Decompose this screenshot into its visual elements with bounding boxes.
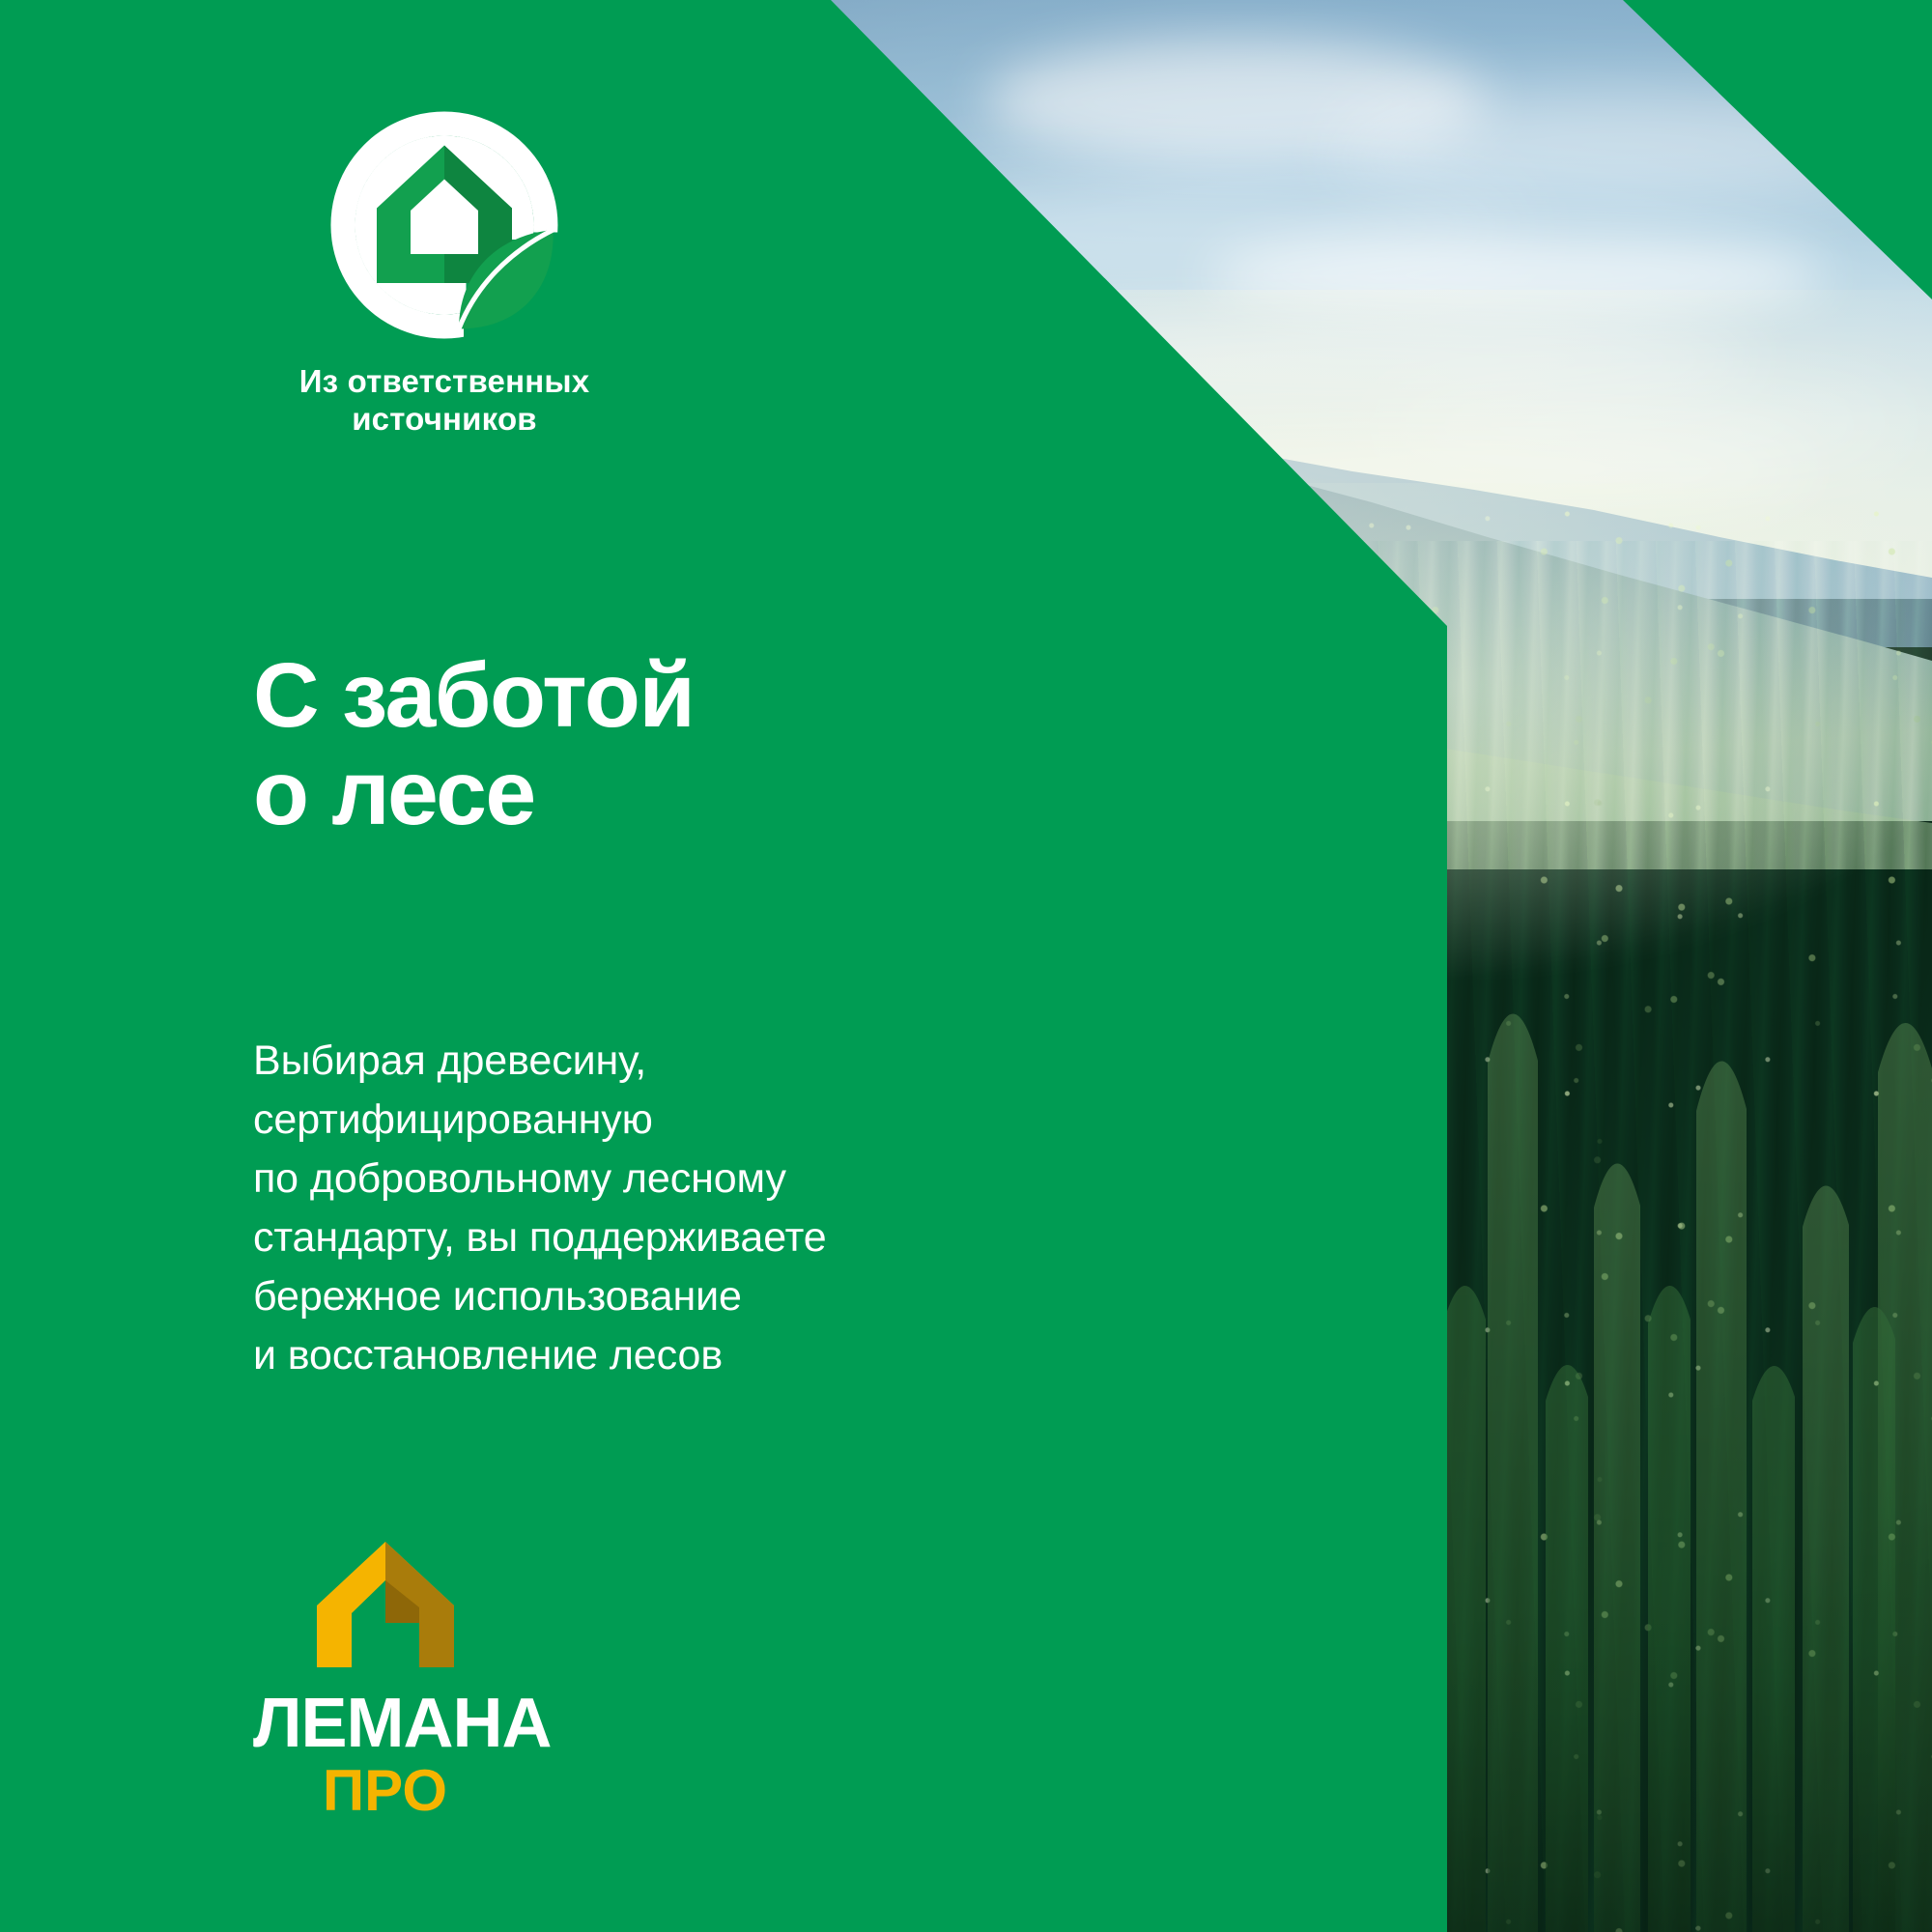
brand-name: ЛЕМАНА	[253, 1689, 639, 1758]
brand-sub-name: ПРО	[323, 1762, 639, 1820]
poster-canvas: Из ответственных источников С заботой о …	[0, 0, 1932, 1932]
page-title: С заботой о лесе	[253, 647, 694, 841]
eco-badge-label: Из ответственных источников	[193, 363, 696, 439]
poster-content: Из ответственных источников С заботой о …	[0, 0, 1447, 1932]
lemana-house-icon	[313, 1538, 458, 1673]
body-copy: Выбирая древесину, сертифицированную по …	[253, 1032, 827, 1385]
house-leaf-circle-icon	[324, 104, 565, 346]
eco-certification-badge: Из ответственных источников	[193, 104, 696, 439]
brand-lockup: ЛЕМАНА ПРО	[253, 1538, 639, 1820]
